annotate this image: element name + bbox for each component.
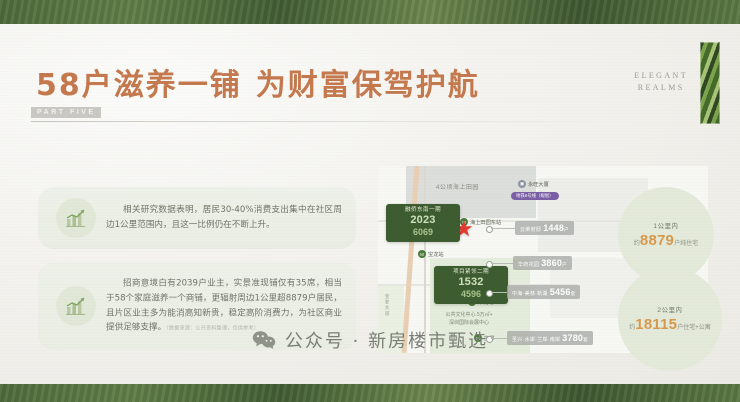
map-poi-station-second-label: 宝龙站 <box>428 251 444 258</box>
map-green-tag-2: 项目紧邻二期 1532 4596 <box>434 266 508 304</box>
map-hectare-label: 4公顷海上田园 <box>436 182 479 191</box>
map-poi-station-main-label: 海上田园东站 <box>470 219 501 226</box>
footer-bar: 公众号 · 新房楼市甄选 <box>0 318 740 362</box>
map-poi-station-second: M 宝龙站 <box>418 250 444 258</box>
map-grey-tag-1-value: 1448 <box>543 223 564 233</box>
map-grey-tag-3-unit: 套 <box>571 291 576 296</box>
bar-chart-growth-icon <box>56 198 96 238</box>
top-green-band <box>0 0 740 24</box>
map-grey-tag-3-label: 中海·美林·新湖 <box>512 291 548 297</box>
brand-decorative-strip <box>700 42 720 124</box>
brand-line-1: ELEGANT <box>634 70 688 82</box>
stat-1km-suffix: 户纯住宅 <box>674 241 698 247</box>
map-green-tag-1-value: 2023 <box>392 214 454 227</box>
map-grey-tag-2-unit: 户 <box>562 262 567 267</box>
page-title-part2: 为财富保驾护航 <box>256 68 480 103</box>
map-callout-leader-1 <box>491 228 515 229</box>
slide-root: 58户滋养一铺为财富保驾护航 PART FIVE ELEGANT REALMS … <box>0 0 740 402</box>
header-divider <box>31 121 620 122</box>
map-green-tag-2-value: 1532 <box>440 276 502 289</box>
stat-circle-1km-value: 约8879户纯住宅 <box>634 232 698 249</box>
map-grey-tag-3: 中海·美林·新湖5456套 <box>507 285 580 299</box>
map-green-tag-1-name: 融侨东南一期 <box>392 207 454 214</box>
stat-circle-2km-title: 2公里内 <box>657 305 682 314</box>
brand-line-2: REALMS <box>634 82 688 94</box>
map-vertical-road-label: 宝安大道 <box>384 294 390 316</box>
map-callout-leader-2 <box>491 263 513 264</box>
map-poi-top-label: 永旺大厦 <box>528 181 549 188</box>
map-grey-tag-1-unit: 户 <box>564 227 569 232</box>
map-grey-tag-2-value: 3860 <box>541 258 562 268</box>
info-card-1: 相关研究数据表明，居民30-40%消费支出集中在社区周边1公里范围内，且这一比例… <box>38 187 356 249</box>
map-grey-tag-2-label: 华府花园 <box>518 262 539 268</box>
map-green-tag-1: 融侨东南一期 2023 6069 <box>386 204 460 242</box>
info-card-1-text: 相关研究数据表明，居民30-40%消费支出集中在社区周边1公里范围内，且这一比例… <box>106 203 342 233</box>
wechat-icon <box>252 330 276 350</box>
stat-circle-1km-title: 1公里内 <box>653 221 678 230</box>
map-green-tag-2-name: 项目紧邻二期 <box>440 269 502 276</box>
footer-account-text: 公众号 · 新房楼市甄选 <box>285 327 488 353</box>
part-tag: PART FIVE <box>31 107 101 118</box>
building-pin-icon: ▣ <box>518 180 526 188</box>
metro-pin-icon: M <box>418 250 426 258</box>
page-title: 58户滋养一铺为财富保驾护航 <box>36 60 480 104</box>
content-panel: 58户滋养一铺为财富保驾护航 PART FIVE ELEGANT REALMS … <box>0 24 740 384</box>
stat-1km-number: 8879 <box>640 232 674 249</box>
map-grey-tag-1: 云荣府邸1448户 <box>515 221 574 235</box>
map-green-tag-1-people: 6069 <box>392 227 454 238</box>
map-grey-tag-3-value: 5456 <box>550 287 571 297</box>
map-grey-tag-1-label: 云荣府邸 <box>520 227 541 233</box>
bottom-green-band <box>0 384 740 402</box>
map-callout-leader-3 <box>491 292 507 293</box>
brand-mark: ELEGANT REALMS <box>634 70 688 93</box>
page-title-part1: 58户滋养一铺 <box>36 68 242 103</box>
map-grey-tag-2: 华府花园3860户 <box>513 256 572 270</box>
map-poi-top: ▣ 永旺大厦 <box>518 180 549 188</box>
metro-line-pill: 地铁6号线（规划） <box>511 192 559 200</box>
